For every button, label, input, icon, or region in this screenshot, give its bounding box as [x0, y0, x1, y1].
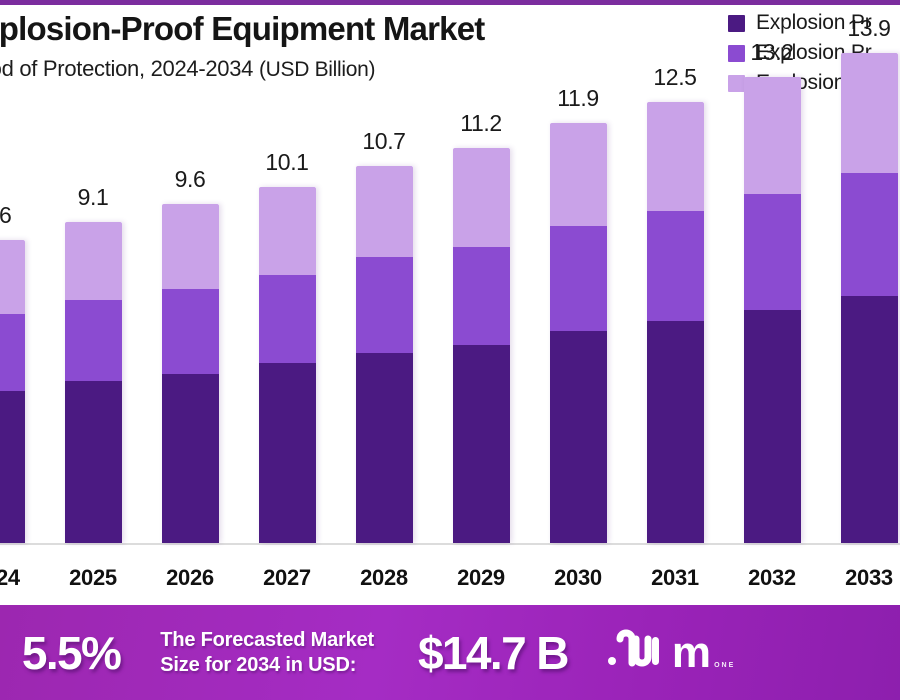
bar-segment-explosion-se[interactable] — [259, 187, 316, 275]
bar-segment-explosion-pr[interactable] — [162, 289, 219, 374]
chart-subtitle-unit: (USD Billion) — [259, 58, 375, 81]
x-axis-tick-label: 2027 — [263, 565, 311, 591]
x-axis-baseline — [0, 543, 900, 545]
forecast-caption-line1: The Forecasted Market — [160, 628, 374, 652]
stacked-bar[interactable]: 10.72028 — [356, 166, 413, 543]
stacked-bar[interactable]: 11.22029 — [453, 148, 510, 543]
bar-segment-explosion-se[interactable] — [647, 102, 704, 211]
bar-segment-explosion-se[interactable] — [453, 148, 510, 247]
forecast-caption-line2: Size for 2034 in USD: — [160, 653, 374, 677]
bar-segment-explosion-pr[interactable] — [259, 363, 316, 543]
bar-value-label: 9.1 — [78, 184, 109, 211]
bar-segment-explosion-pr[interactable] — [65, 300, 122, 381]
bar-segment-explosion-se[interactable] — [162, 204, 219, 289]
bar-segment-explosion-pr[interactable] — [65, 381, 122, 543]
bar-group-2026[interactable]: 9.62026 — [162, 204, 219, 543]
bar-segment-explosion-se[interactable] — [841, 53, 898, 173]
bar-segment-explosion-pr[interactable] — [744, 194, 801, 310]
forecast-caption: The Forecasted Market Size for 2034 in U… — [160, 628, 374, 677]
bar-segment-explosion-se[interactable] — [0, 240, 25, 314]
bar-group-2031[interactable]: 12.52031 — [647, 102, 704, 543]
bar-segment-explosion-se[interactable] — [65, 222, 122, 300]
bar-segment-explosion-pr[interactable] — [0, 391, 25, 543]
page-title: Explosion-Proof Equipment Market — [0, 10, 720, 49]
x-axis-tick-label: 2025 — [69, 565, 117, 591]
stacked-bar[interactable]: 11.92030 — [550, 123, 607, 543]
chart-header: Explosion-Proof Equipment Market ethod o… — [0, 10, 720, 82]
bar-group-2030[interactable]: 11.92030 — [550, 123, 607, 543]
brand-logo-text: m ONE — [672, 633, 735, 673]
bar-segment-explosion-se[interactable] — [550, 123, 607, 225]
bar-segment-explosion-pr[interactable] — [550, 331, 607, 543]
bar-segment-explosion-pr[interactable] — [744, 310, 801, 543]
bar-group-2029[interactable]: 11.22029 — [453, 148, 510, 543]
bar-value-label: 9.6 — [175, 166, 206, 193]
brand-wordmark: m — [672, 628, 710, 677]
bar-value-label: 8.6 — [0, 202, 11, 229]
x-axis-tick-label: 2024 — [0, 565, 20, 591]
bar-segment-explosion-pr[interactable] — [162, 374, 219, 543]
chart-subtitle-main: ethod of Protection, 2024-2034 — [0, 56, 253, 81]
infographic-root: Explosion-Proof Equipment Market ethod o… — [0, 0, 900, 700]
x-axis-tick-label: 2032 — [748, 565, 796, 591]
stacked-bar[interactable]: 10.12027 — [259, 187, 316, 543]
legend-swatch-icon — [728, 45, 745, 62]
bar-group-2033[interactable]: 13.92033 — [841, 53, 898, 543]
stacked-bar[interactable]: 12.52031 — [647, 102, 704, 543]
stacked-bar[interactable]: 8.62024 — [0, 240, 25, 543]
legend-swatch-icon — [728, 75, 745, 92]
bar-value-label: 13.9 — [847, 15, 890, 42]
stacked-bar[interactable]: 13.92033 — [841, 53, 898, 543]
cagr-value: 5.5% — [22, 626, 120, 680]
bar-segment-explosion-pr[interactable] — [550, 226, 607, 332]
bar-segment-explosion-pr[interactable] — [0, 314, 25, 392]
bar-segment-explosion-se[interactable] — [356, 166, 413, 258]
bar-group-2028[interactable]: 10.72028 — [356, 166, 413, 543]
bar-value-label: 10.1 — [265, 149, 308, 176]
chart-subtitle: ethod of Protection, 2024-2034 (USD Bill… — [0, 56, 720, 82]
bar-segment-explosion-pr[interactable] — [356, 353, 413, 543]
bar-segment-explosion-pr[interactable] — [647, 321, 704, 543]
summary-banner: et will Grow GR of: 5.5% The Forecasted … — [0, 605, 900, 700]
forecast-value: $14.7 B — [418, 626, 568, 680]
stacked-bar[interactable]: 9.12025 — [65, 222, 122, 543]
bar-segment-explosion-pr[interactable] — [453, 345, 510, 543]
brand-logo[interactable]: m ONE — [606, 627, 735, 678]
x-axis-tick-label: 2033 — [845, 565, 893, 591]
bar-segment-explosion-pr[interactable] — [259, 275, 316, 363]
bar-segment-explosion-pr[interactable] — [841, 173, 898, 296]
x-axis-tick-label: 2031 — [651, 565, 699, 591]
brand-mark-icon — [606, 627, 662, 678]
bar-value-label: 12.5 — [653, 64, 696, 91]
bar-value-label: 11.2 — [460, 110, 501, 137]
bar-group-2032[interactable]: 13.22032 — [744, 77, 801, 543]
brand-tagline: ONE — [714, 662, 735, 669]
bar-group-2027[interactable]: 10.12027 — [259, 187, 316, 543]
top-accent-strip — [0, 0, 900, 5]
bar-value-label: 10.7 — [362, 128, 405, 155]
bar-segment-explosion-pr[interactable] — [841, 296, 898, 543]
bar-group-2025[interactable]: 9.12025 — [65, 222, 122, 543]
x-axis-tick-label: 2028 — [360, 565, 408, 591]
summary-banner-content: et will Grow GR of: 5.5% The Forecasted … — [0, 605, 735, 700]
chart-plot-area: 8.620249.120259.6202610.1202710.7202811.… — [0, 120, 900, 545]
bar-segment-explosion-se[interactable] — [744, 77, 801, 193]
bar-value-label: 13.2 — [750, 39, 793, 66]
bar-segment-explosion-pr[interactable] — [647, 211, 704, 320]
stacked-bar[interactable]: 13.22032 — [744, 77, 801, 543]
bar-group-2024[interactable]: 8.62024 — [0, 240, 25, 543]
stacked-bar[interactable]: 9.62026 — [162, 204, 219, 543]
x-axis-tick-label: 2029 — [457, 565, 505, 591]
bar-value-label: 11.9 — [557, 85, 598, 112]
bar-segment-explosion-pr[interactable] — [356, 257, 413, 352]
x-axis-tick-label: 2030 — [554, 565, 602, 591]
legend-swatch-icon — [728, 15, 745, 32]
x-axis-tick-label: 2026 — [166, 565, 214, 591]
bar-segment-explosion-pr[interactable] — [453, 247, 510, 346]
